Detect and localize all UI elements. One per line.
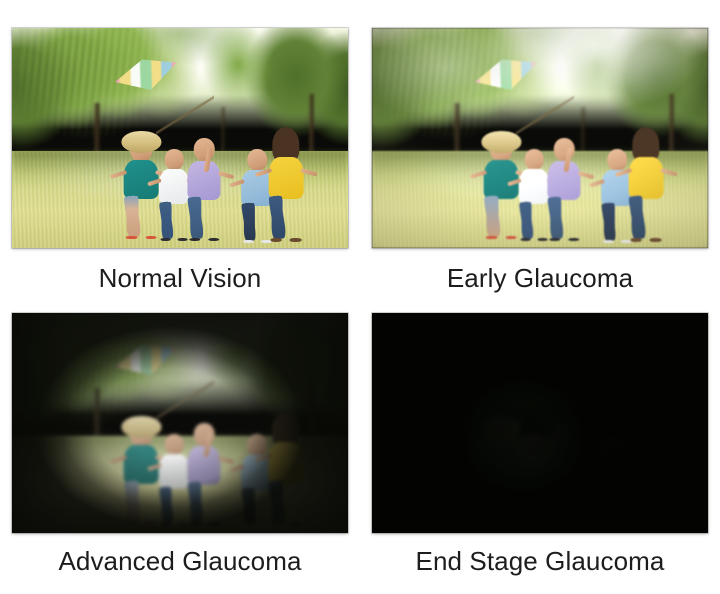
legs [487,196,516,237]
child-yellow-shirt [627,419,664,522]
legs [631,196,660,239]
head [165,434,184,455]
panel-label-normal-vision: Normal Vision [99,264,262,293]
legs [127,481,156,522]
head [165,149,184,170]
shoe [270,238,282,242]
child-lavender-shirt [547,138,582,237]
shoe [486,236,498,240]
child-lavender-shirt [187,138,222,237]
child-yellow-shirt [267,134,304,237]
shoe [190,523,201,527]
park-scene-normal [12,28,348,248]
panel-grid: Normal Vision [0,0,720,594]
shoe [630,523,642,527]
child-white-shirt [158,149,190,237]
shoe [630,238,642,242]
shoe [550,238,561,242]
shoe [145,236,157,240]
straw-hat [122,131,161,152]
head [248,434,267,456]
park-scene-advanced [12,313,348,533]
torso [159,454,189,489]
straw-hat [122,416,161,437]
panel-cell-advanced-glaucoma: Advanced Glaucoma [0,297,360,594]
glaucoma-progression-figure: Normal Vision [0,0,720,594]
image-panel-end-stage-glaucoma [372,313,708,533]
child-white-shirt [518,149,550,237]
kite-string [516,94,573,138]
image-panel-advanced-glaucoma [12,313,348,533]
torso [268,442,303,483]
child-yellow-shirt [627,134,664,237]
shoe [178,238,188,241]
kite-string [156,379,213,423]
straw-hat [482,416,521,437]
shoe [126,236,138,240]
legs [487,481,516,522]
shoe [270,523,282,527]
panel-label-advanced-glaucoma: Advanced Glaucoma [58,547,301,576]
shoe [568,238,579,242]
torso [188,161,221,201]
shoe [126,521,138,525]
panel-label-early-glaucoma: Early Glaucoma [447,264,633,293]
legs [191,197,219,239]
park-scene-end-stage [372,313,708,533]
shoe [161,523,171,526]
shoe [290,238,302,242]
torso [519,454,549,489]
head [608,434,627,456]
torso [519,169,549,204]
shoe [145,521,157,525]
panel-cell-early-glaucoma: Early Glaucoma [360,0,720,297]
shoe [538,523,548,526]
park-scene-early [372,28,708,248]
kite-string [516,379,573,423]
image-panel-early-glaucoma [372,28,708,248]
torso [188,446,221,486]
child-teal-shirt-hat [123,138,160,235]
legs [551,197,579,239]
legs [162,487,187,524]
head [248,149,267,171]
shoe [161,238,171,241]
panel-label-end-stage-glaucoma: End Stage Glaucoma [416,547,665,576]
legs [631,481,660,524]
shoe [650,523,662,527]
child-teal-shirt-hat [483,423,520,520]
child-white-shirt [518,434,550,522]
child-lavender-shirt [547,423,582,522]
torso [628,442,663,483]
legs [271,481,300,524]
shoe [568,523,579,527]
torso [628,157,663,198]
torso [548,446,581,486]
shoe [208,523,219,527]
shoe [190,238,201,242]
shoe [178,523,188,526]
head [608,149,627,171]
legs [522,202,547,239]
child-yellow-shirt [267,419,304,522]
shoe [521,523,531,526]
legs [271,196,300,239]
shoe [505,521,517,525]
child-teal-shirt-hat [483,138,520,235]
legs [162,202,187,239]
shoe [290,523,302,527]
shoe [650,238,662,242]
child-lavender-shirt [187,423,222,522]
torso [159,169,189,204]
kite-string [156,94,213,138]
panel-cell-end-stage-glaucoma: End Stage Glaucoma [360,297,720,594]
legs [127,196,156,237]
legs [522,487,547,524]
straw-hat [482,131,521,152]
shoe [505,236,517,240]
legs [191,482,219,524]
shoe [486,521,498,525]
legs [551,482,579,524]
torso [548,161,581,201]
head [525,434,544,455]
child-white-shirt [158,434,190,522]
panel-cell-normal-vision: Normal Vision [0,0,360,297]
torso [268,157,303,198]
shoe [538,238,548,241]
shoe [208,238,219,242]
image-panel-normal-vision [12,28,348,248]
child-teal-shirt-hat [123,423,160,520]
head [525,149,544,170]
shoe [550,523,561,527]
shoe [521,238,531,241]
